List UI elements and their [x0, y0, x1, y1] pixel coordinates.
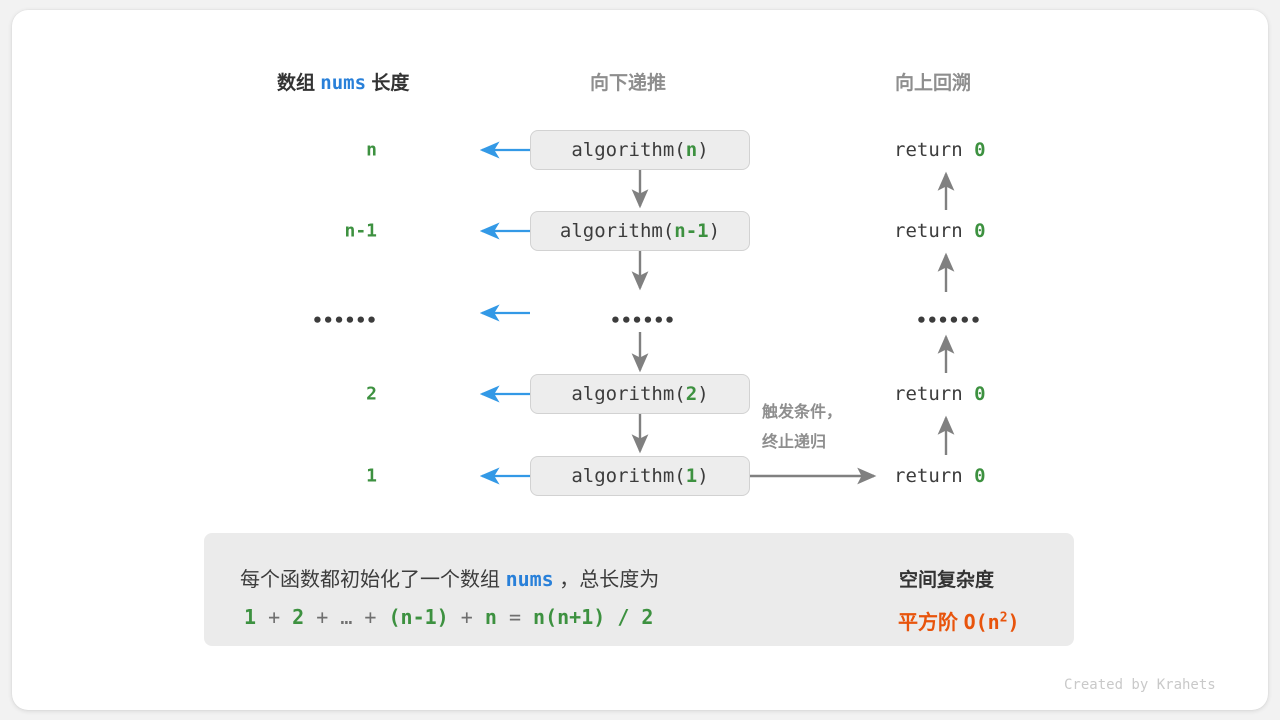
summary-result-bigo: O(n2)	[964, 610, 1020, 634]
call-close-row-4: )	[697, 465, 708, 487]
summary-result-exponent: 2	[1000, 610, 1008, 625]
call-dots-row-2: ••••••	[610, 311, 675, 332]
call-arg-row-3: 2	[686, 383, 697, 405]
trigger-note-line-1: 触发条件，	[762, 398, 842, 428]
diagram-card: 数组 nums 长度 向下递推 向上回溯 n algorithm(n) retu…	[12, 10, 1268, 710]
formula-part-6: n	[485, 605, 497, 629]
summary-nums-code: nums	[506, 567, 554, 591]
formula-part-1: +	[256, 605, 292, 629]
trigger-note-line-2: 终止递归	[762, 428, 842, 458]
call-close-row-1: )	[709, 220, 720, 242]
summary-line-1: 每个函数都初始化了一个数组 nums ，总长度为	[240, 563, 659, 592]
call-arg-row-1: n-1	[674, 220, 708, 242]
call-arg-row-0: n	[686, 139, 697, 161]
summary-result-close: )	[1008, 610, 1020, 634]
call-box-row-4: algorithm(1)	[530, 456, 750, 496]
formula-part-5: +	[449, 605, 485, 629]
call-text-row-0: algorithm(	[571, 139, 685, 161]
return-value-row-3: 0	[974, 383, 985, 405]
return-row-3: return 0	[894, 383, 986, 405]
formula-part-7: =	[497, 605, 533, 629]
trigger-condition-note: 触发条件， 终止递归	[762, 398, 842, 458]
summary-result-prefix: 平方阶	[898, 612, 958, 634]
call-text-row-1: algorithm(	[560, 220, 674, 242]
call-box-row-1: algorithm(n-1)	[530, 211, 750, 251]
header-nums-code: nums	[320, 72, 366, 94]
summary-formula: 1 + 2 + … + (n-1) + n = n(n+1) / 2	[244, 605, 653, 629]
summary-result-bigo-text: O(n	[964, 610, 1000, 634]
return-value-row-1: 0	[974, 220, 985, 242]
return-value-row-0: 0	[974, 139, 985, 161]
summary-complexity-title: 空间复杂度	[899, 565, 994, 592]
credit-footer: Created by Krahets	[1064, 677, 1216, 693]
header-descend: 向下递推	[590, 68, 666, 95]
return-label-row-3: return	[894, 383, 963, 405]
diagram-stage: 数组 nums 长度 向下递推 向上回溯 n algorithm(n) retu…	[12, 10, 1268, 710]
summary-line-1-prefix: 每个函数都初始化了一个数组	[240, 569, 500, 591]
return-label-row-0: return	[894, 139, 963, 161]
return-row-0: return 0	[894, 139, 986, 161]
length-label-row-1: n-1	[307, 221, 377, 242]
return-label-row-1: return	[894, 220, 963, 242]
summary-line-1-suffix: ，总长度为	[559, 569, 659, 591]
return-row-1: return 0	[894, 220, 986, 242]
call-box-row-3: algorithm(2)	[530, 374, 750, 414]
return-value-row-4: 0	[974, 465, 985, 487]
header-array-length: 数组 nums 长度	[277, 68, 409, 95]
blue-arrows	[482, 150, 530, 476]
length-label-row-0: n	[307, 140, 377, 161]
return-label-row-4: return	[894, 465, 963, 487]
formula-part-2: 2	[292, 605, 304, 629]
call-arg-row-4: 1	[686, 465, 697, 487]
call-close-row-3: )	[697, 383, 708, 405]
return-dots-row-2: ••••••	[916, 311, 981, 332]
length-label-row-2-dots: ••••••	[307, 311, 377, 332]
formula-part-4: (n-1)	[389, 605, 449, 629]
length-label-row-4: 1	[307, 466, 377, 487]
header-backtrack: 向上回溯	[895, 68, 971, 95]
length-label-row-3: 2	[307, 384, 377, 405]
return-row-4: return 0	[894, 465, 986, 487]
formula-part-0: 1	[244, 605, 256, 629]
header-array-prefix: 数组	[277, 73, 315, 94]
call-text-row-3: algorithm(	[571, 383, 685, 405]
call-box-row-0: algorithm(n)	[530, 130, 750, 170]
summary-complexity-result: 平方阶 O(n2)	[898, 606, 1020, 635]
call-close-row-0: )	[697, 139, 708, 161]
call-text-row-4: algorithm(	[571, 465, 685, 487]
formula-part-3: + … +	[304, 605, 388, 629]
formula-part-8: n(n+1) / 2	[533, 605, 653, 629]
header-array-suffix: 长度	[371, 73, 409, 94]
